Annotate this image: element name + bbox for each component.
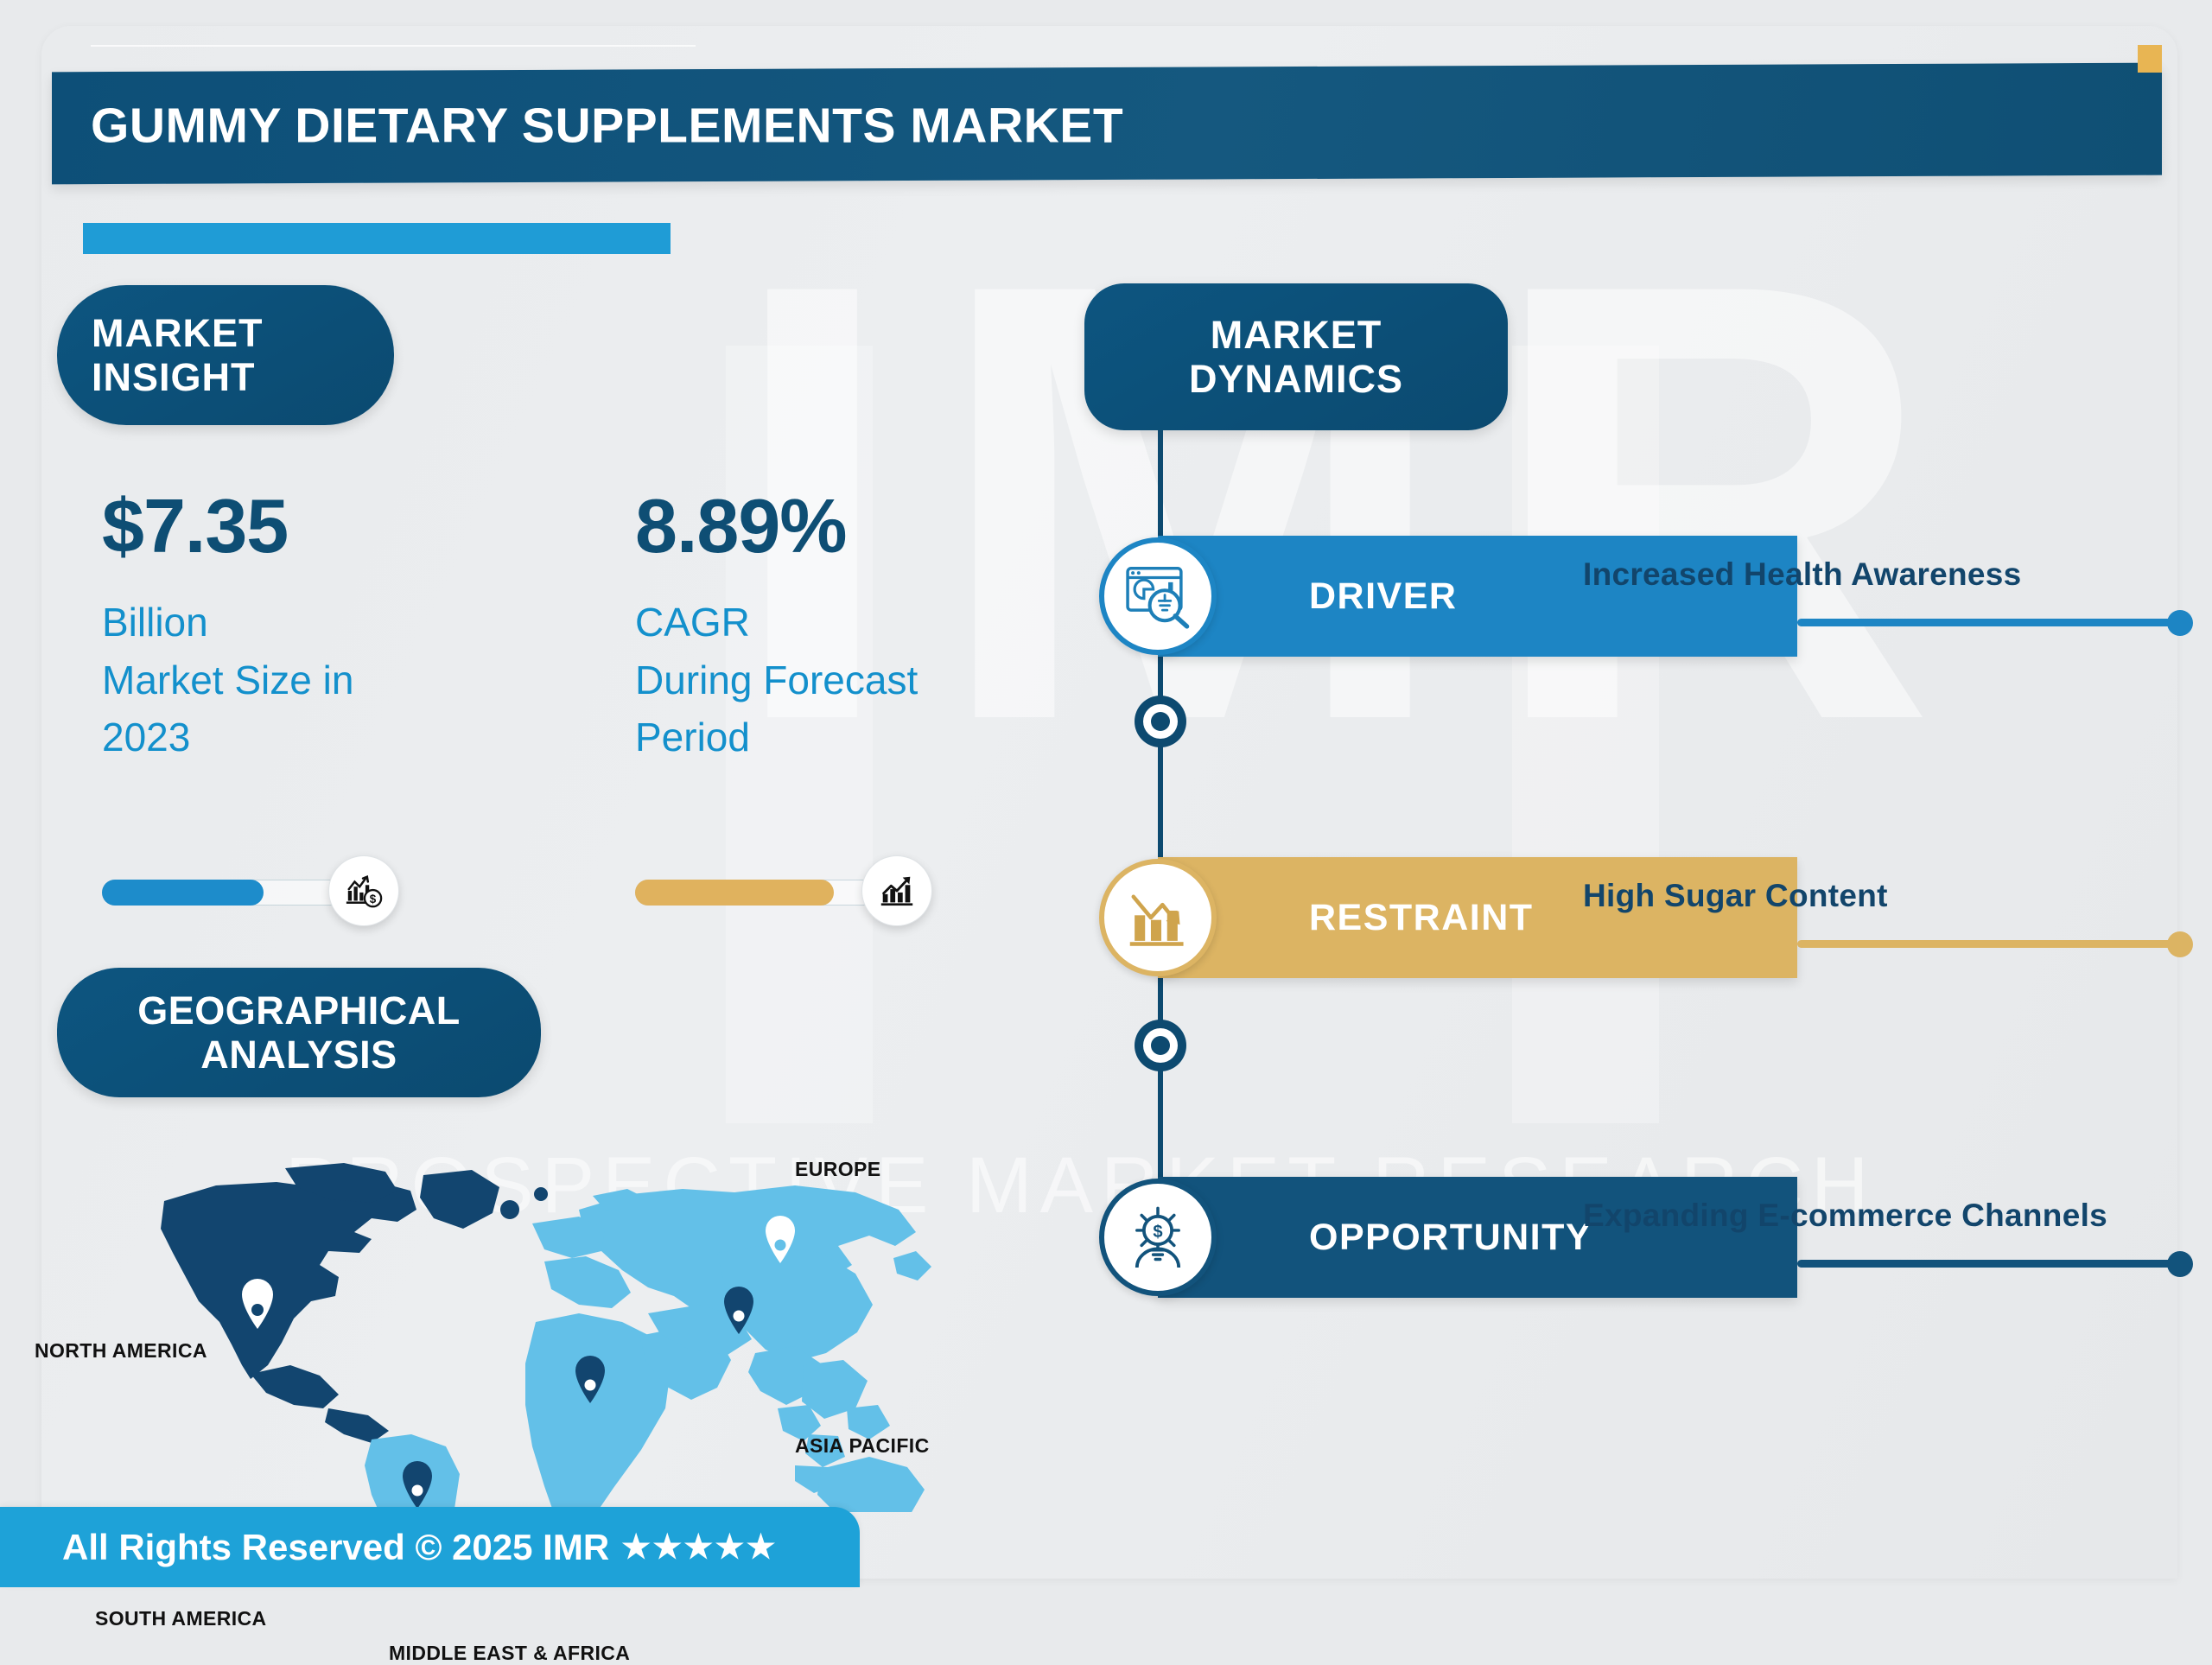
stat-market-size: $7.35 Billion Market Size in 2023 [102,488,387,766]
opportunity-leader-dot [2167,1251,2193,1277]
market-insight-pill-line2: INSIGHT [92,355,256,399]
dynamics-pill-line1: MARKET [1211,313,1382,357]
driver-leader-line [1797,619,2177,626]
restraint-chip-label: RESTRAINT [1158,857,1797,978]
footer-bar: All Rights Reserved © 2025 IMR ★★★★★ [0,1507,860,1587]
driver-leader-dot [2167,610,2193,636]
opportunity-leader-line [1797,1260,2177,1268]
restraint-description: High Sugar Content [1583,878,1888,914]
stat-market-size-value: $7.35 [102,488,387,564]
map-label-europe: EUROPE [795,1158,881,1181]
market-insight-pill: MARKET INSIGHT [57,285,394,425]
infographic-root: IMR PROSPECTIVE MARKET RESEARCH GUMMY DI… [0,0,2212,1587]
stat-market-size-progress: $ [102,869,422,916]
stat-market-size-label1: Market Size in [102,651,387,709]
map-label-middle-east-africa: MIDDLE EAST & AFRICA [389,1642,630,1665]
restraint-leader-dot [2167,931,2193,957]
driver-description: Increased Health Awareness [1583,556,2022,593]
map-label-south-america: SOUTH AMERICA [95,1607,267,1630]
market-dynamics-pill: MARKET DYNAMICS [1084,283,1508,430]
dynamics-pill-line2: DYNAMICS [1189,357,1403,401]
footer-rating-stars: ★★★★★ [621,1528,777,1566]
geo-pill-line1: GEOGRAPHICAL [137,988,461,1033]
footer-copyright: All Rights Reserved © 2025 IMR [62,1527,609,1568]
stat-cagr-label1: During Forecast [635,651,1007,709]
declining-bar-chart-icon [1099,859,1217,976]
restraint-leader-line [1797,940,2177,948]
progress-fill [102,880,264,906]
bar-chart-dollar-icon: $ [328,855,399,926]
dashboard-magnifier-icon [1099,537,1217,655]
stat-market-size-unit: Billion [102,594,387,651]
svg-text:$: $ [370,893,377,906]
timeline-node-1 [1135,696,1186,747]
progress-fill [635,880,834,906]
map-label-north-america: NORTH AMERICA [35,1339,207,1363]
driver-chip-label: DRIVER [1158,536,1797,657]
lightbulb-dollar-icon: $ [1099,1179,1217,1296]
opportunity-chip-label: OPPORTUNITY [1158,1177,1797,1298]
opportunity-description: Expanding E-commerce Channels [1583,1198,2107,1234]
svg-text:$: $ [1153,1223,1162,1242]
map-label-asia-pacific: ASIA PACIFIC [795,1434,930,1458]
page-title: GUMMY DIETARY SUPPLEMENTS MARKET [52,98,1123,155]
title-accent-bar [83,223,671,254]
growth-arrow-chart-icon [861,855,932,926]
geo-pill-line2: ANALYSIS [200,1033,397,1077]
stat-market-size-label2: 2023 [102,709,387,766]
stat-cagr-label2: Period [635,709,1007,766]
watermark-band-right [1512,346,1659,1123]
stat-cagr-unit: CAGR [635,594,1007,651]
stat-cagr-value: 8.89% [635,488,1007,564]
title-bar: GUMMY DIETARY SUPPLEMENTS MARKET [52,63,2162,185]
timeline-node-2 [1135,1020,1186,1071]
geographical-analysis-pill: GEOGRAPHICAL ANALYSIS [57,968,541,1097]
stat-cagr: 8.89% CAGR During Forecast Period [635,488,1007,766]
market-insight-pill-line1: MARKET [92,311,263,355]
world-map: NORTH AMERICA SOUTH AMERICA MIDDLE EAST … [112,1149,1028,1512]
stat-cagr-progress [635,869,955,916]
sheet-hairline [91,45,696,47]
title-gold-accent [2138,45,2162,73]
